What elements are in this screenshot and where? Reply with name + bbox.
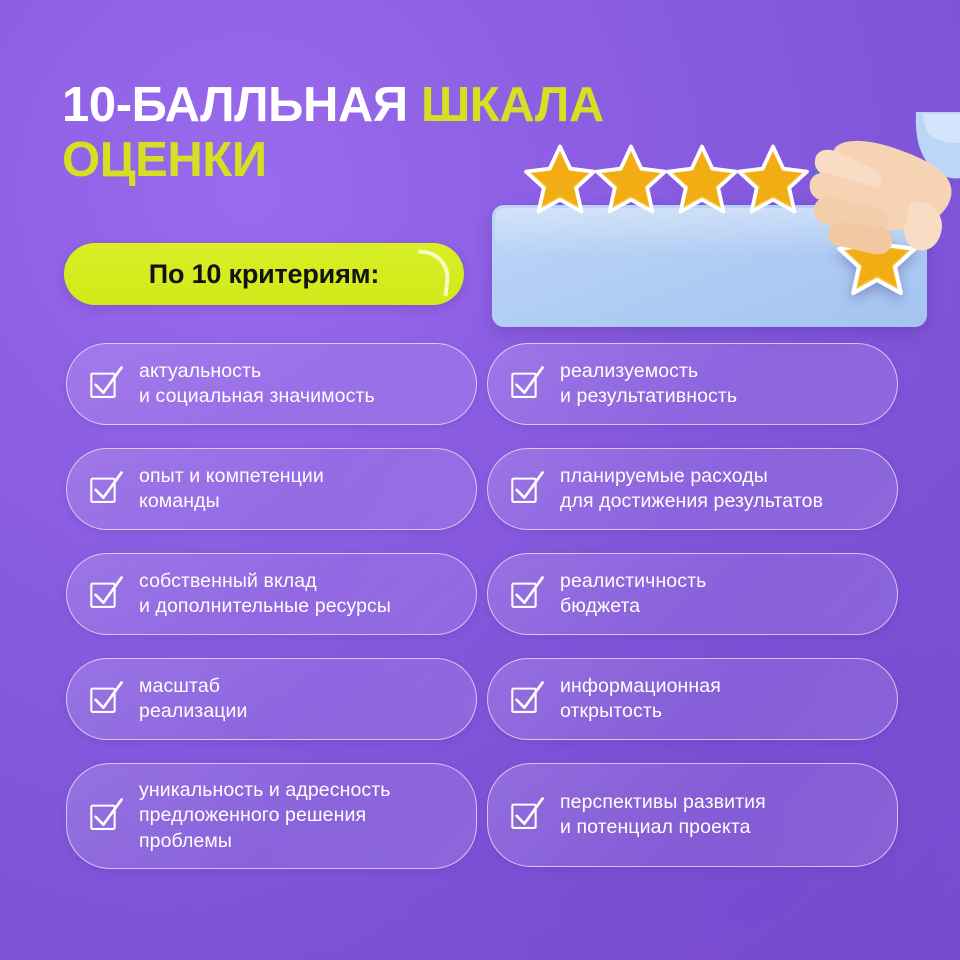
criterion-card-10[interactable]: перспективы развития и потенциал проекта — [487, 763, 898, 867]
criterion-card-1[interactable]: актуальность и социальная значимость — [66, 343, 477, 425]
checkbox-checked-icon — [87, 680, 125, 718]
criterion-label: перспективы развития и потенциал проекта — [560, 790, 766, 841]
criterion-label: информационная открытость — [560, 674, 721, 725]
page-title-accent-part-1: ШКАЛА — [421, 78, 604, 132]
checkbox-checked-icon — [508, 365, 546, 403]
criterion-label: собственный вклад и дополнительные ресур… — [139, 569, 391, 620]
checkbox-checked-icon — [87, 797, 125, 835]
checkbox-checked-icon — [87, 575, 125, 613]
criterion-card-3[interactable]: собственный вклад и дополнительные ресур… — [66, 553, 477, 635]
criterion-card-9[interactable]: информационная открытость — [487, 658, 898, 740]
criterion-card-7[interactable]: планируемые расходы для достижения резул… — [487, 448, 898, 530]
badge-gloss-highlight — [414, 249, 452, 296]
criterion-card-5[interactable]: уникальность и адресность предложенного … — [66, 763, 477, 869]
criteria-grid: актуальность и социальная значимость опы… — [66, 343, 898, 892]
checkbox-checked-icon — [508, 796, 546, 834]
checkbox-checked-icon — [508, 575, 546, 613]
checkbox-checked-icon — [87, 365, 125, 403]
criterion-card-4[interactable]: масштаб реализации — [66, 658, 477, 740]
page-title-white-part: 10-БАЛЛЬНАЯ — [62, 78, 408, 132]
criteria-right-column: реализуемость и результативность планиру… — [487, 343, 898, 892]
criteria-count-badge: По 10 критериям: — [64, 243, 464, 305]
criterion-card-2[interactable]: опыт и компетенции команды — [66, 448, 477, 530]
page-title-accent-part-2: ОЦЕНКИ — [62, 133, 267, 187]
checkbox-checked-icon — [508, 680, 546, 718]
poster-canvas: 10-БАЛЛЬНАЯ ШКАЛА ОЦЕНКИ По 10 критериям… — [0, 0, 960, 960]
criterion-label: масштаб реализации — [139, 674, 248, 725]
criterion-label: реалистичность бюджета — [560, 569, 706, 620]
criterion-label: планируемые расходы для достижения резул… — [560, 464, 823, 515]
criterion-label: актуальность и социальная значимость — [139, 359, 375, 410]
page-title: 10-БАЛЛЬНАЯ ШКАЛА ОЦЕНКИ — [62, 78, 822, 188]
hand-placing-star-icon — [798, 112, 960, 287]
criteria-count-badge-label: По 10 критериям: — [149, 259, 379, 290]
criterion-card-6[interactable]: реализуемость и результативность — [487, 343, 898, 425]
criterion-label: уникальность и адресность предложенного … — [139, 778, 391, 854]
criterion-label: опыт и компетенции команды — [139, 464, 324, 515]
criterion-card-8[interactable]: реалистичность бюджета — [487, 553, 898, 635]
checkbox-checked-icon — [87, 470, 125, 508]
checkbox-checked-icon — [508, 470, 546, 508]
criteria-left-column: актуальность и социальная значимость опы… — [66, 343, 477, 892]
criterion-label: реализуемость и результативность — [560, 359, 737, 410]
